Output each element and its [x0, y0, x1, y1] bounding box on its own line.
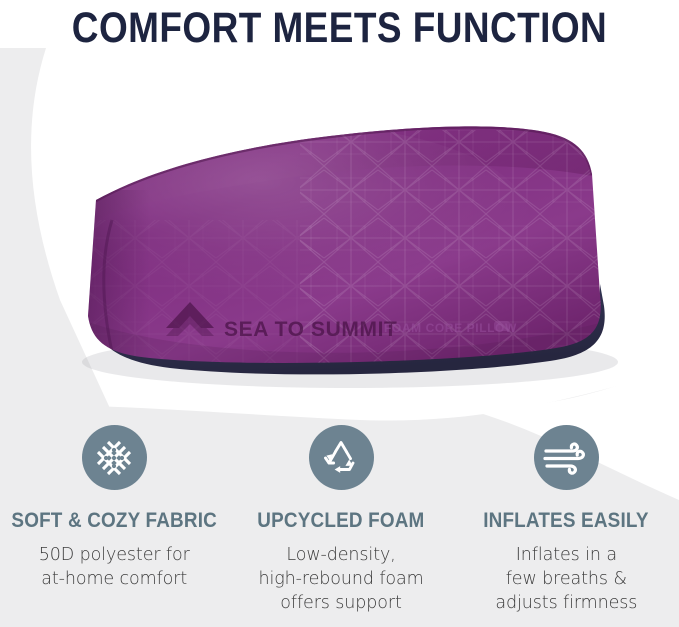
feature-title: SOFT & COZY FABRIC	[11, 509, 217, 533]
product-label-badge	[494, 321, 510, 331]
wind-icon	[534, 425, 599, 490]
woven-fabric-icon	[82, 425, 147, 490]
pillow-body	[70, 125, 620, 380]
product-image: SEA TO SUMMIT FOAM CORE PILLOW	[0, 70, 679, 400]
feature-description: 50D polyester for at-home comfort	[39, 543, 190, 591]
feature-item-fabric: SOFT & COZY FABRIC 50D polyester for at-…	[0, 418, 228, 627]
feature-description: Low-density, high-rebound foam offers su…	[259, 543, 424, 615]
feature-description-line: at-home comfort	[39, 567, 190, 591]
feature-description-line: 50D polyester for	[39, 543, 190, 567]
brand-name: SEA TO SUMMIT	[224, 318, 397, 341]
feature-description: Inflates in a few breaths & adjusts firm…	[495, 543, 637, 615]
feature-description-line: high-rebound foam	[259, 567, 424, 591]
feature-title: INFLATES EASILY	[484, 509, 649, 533]
feature-description-line: offers support	[259, 591, 424, 615]
feature-description-line: Inflates in a	[495, 543, 637, 567]
feature-description-line: Low-density,	[259, 543, 424, 567]
feature-item-inflation: INFLATES EASILY Inflates in a few breath…	[454, 418, 679, 627]
infographic-canvas: COMFORT MEETS FUNCTION	[0, 0, 679, 627]
feature-description-line: few breaths &	[495, 567, 637, 591]
recycle-icon	[309, 425, 374, 490]
feature-list: SOFT & COZY FABRIC 50D polyester for at-…	[0, 418, 679, 627]
feature-description-line: adjusts firmness	[495, 591, 637, 615]
feature-title: UPCYCLED FOAM	[257, 509, 424, 533]
page-title: COMFORT MEETS FUNCTION	[48, 2, 632, 54]
feature-item-foam: UPCYCLED FOAM Low-density, high-rebound …	[228, 418, 453, 627]
